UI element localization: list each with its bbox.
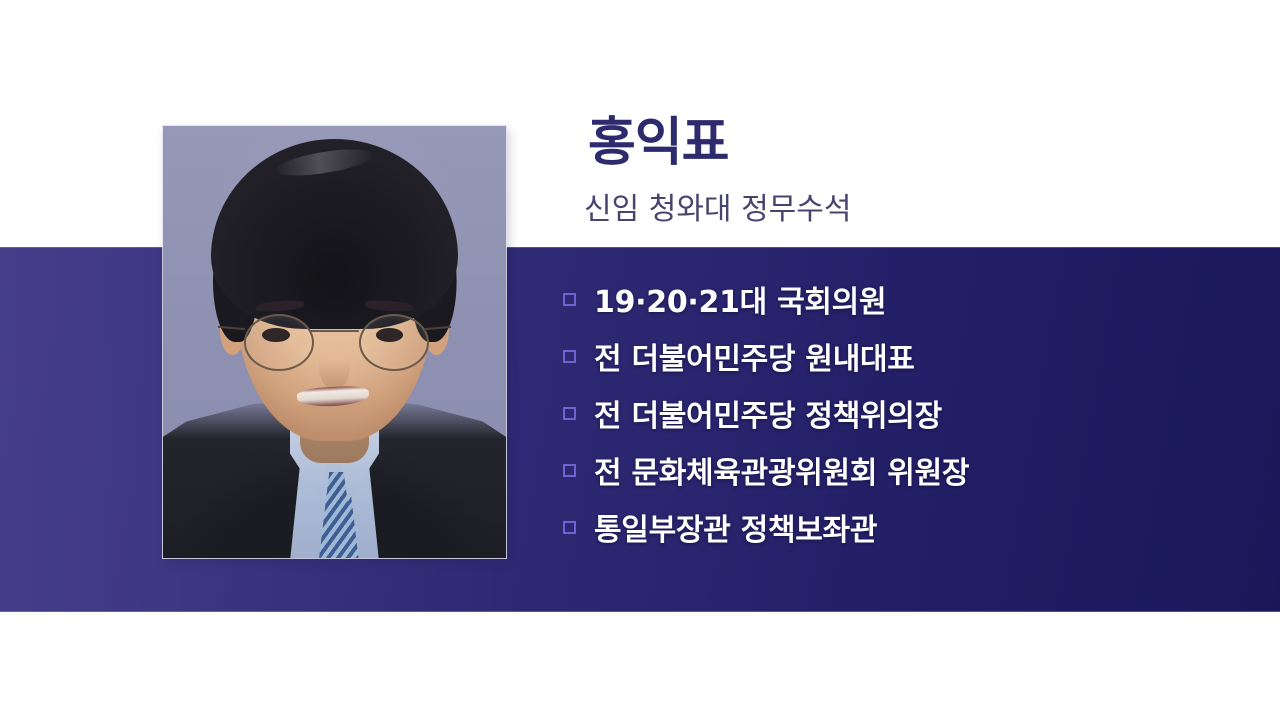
portrait-image — [163, 126, 506, 558]
list-item-label: 전 문화체육관광위원회 위원장 — [594, 448, 969, 492]
list-item-label: 전 더불어민주당 정책위의장 — [594, 391, 942, 435]
glasses-lens-right — [359, 314, 430, 372]
portrait-photo — [163, 126, 506, 558]
square-bullet-icon — [563, 407, 576, 420]
list-item-label: 통일부장관 정책보좌관 — [594, 505, 877, 549]
glasses-temple-left — [218, 326, 246, 331]
list-item: 전 더불어민주당 정책위의장 — [563, 384, 1223, 441]
square-bullet-icon — [563, 293, 576, 306]
lower-third-graphic: 홍익표 신임 청와대 정무수석 19·20·21대 국회의원 전 더불어민주당 … — [0, 0, 1280, 720]
glasses-bridge — [310, 330, 358, 333]
person-title: 신임 청와대 정무수석 — [584, 192, 851, 228]
list-item-label: 전 더불어민주당 원내대표 — [594, 334, 915, 378]
list-item-label: 19·20·21대 국회의원 — [594, 277, 886, 321]
band-bottom-highlight — [0, 611, 1280, 612]
square-bullet-icon — [563, 521, 576, 534]
list-item: 전 더불어민주당 원내대표 — [563, 327, 1223, 384]
person-name: 홍익표 — [588, 117, 729, 169]
glasses-lens-left — [244, 314, 315, 372]
credentials-list: 19·20·21대 국회의원 전 더불어민주당 원내대표 전 더불어민주당 정책… — [563, 270, 1223, 555]
list-item: 19·20·21대 국회의원 — [563, 270, 1223, 327]
square-bullet-icon — [563, 464, 576, 477]
square-bullet-icon — [563, 350, 576, 363]
list-item: 전 문화체육관광위원회 위원장 — [563, 441, 1223, 498]
glasses-temple-right — [424, 326, 452, 331]
list-item: 통일부장관 정책보좌관 — [563, 498, 1223, 555]
nose-shape — [319, 342, 350, 390]
